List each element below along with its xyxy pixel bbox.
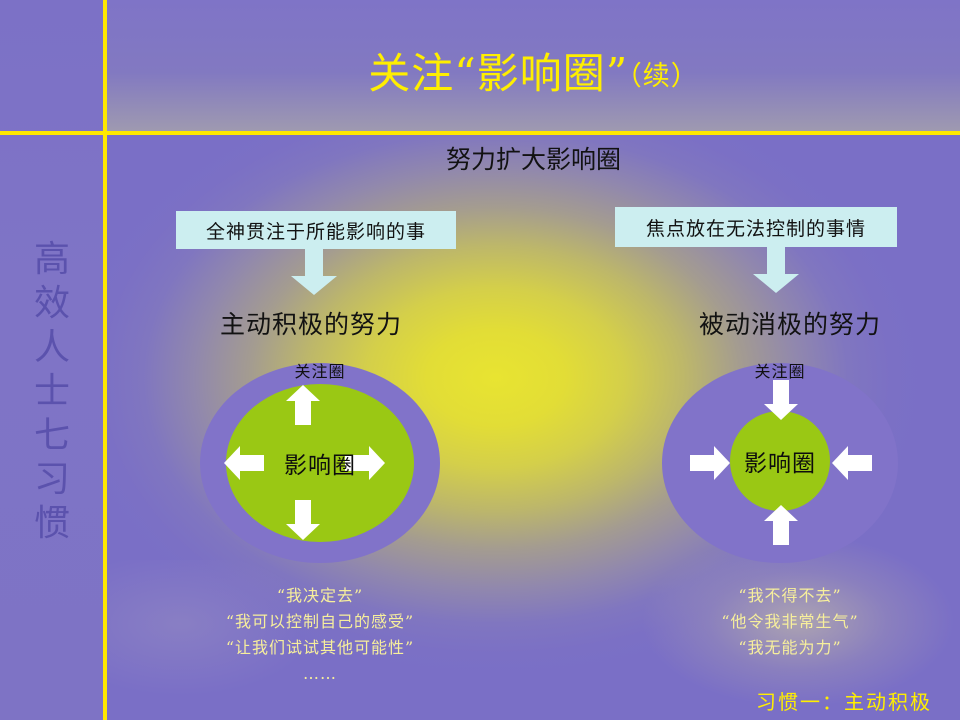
arrow-stem: [238, 455, 264, 471]
section-heading-right: 被动消极的努力: [640, 305, 940, 341]
callout-box-left: 全神贯注于所能影响的事: [176, 211, 456, 249]
horizontal-divider-line: [0, 131, 960, 135]
arrow-stem: [295, 500, 311, 526]
quote-item: “我可以控制自己的感受”: [170, 609, 470, 635]
arrow-head: [369, 446, 385, 480]
arrow-stem: [767, 247, 785, 275]
sidebar-char: 士: [22, 370, 82, 414]
arrow-head: [291, 276, 337, 295]
diagram-reactive: 关注圈 影响圈: [660, 355, 900, 580]
callout-left-text: 全神贯注于所能影响的事: [206, 217, 426, 244]
connector-arrow-right-icon: [753, 247, 799, 293]
quote-item: “他令我非常生气”: [640, 609, 940, 635]
circle-of-influence-right: 影响圈: [730, 411, 830, 511]
arrow-stem: [773, 519, 789, 545]
slide-canvas: 高 效 人 士 七 习 惯 关注“影响圈”（续） 努力扩大影响圈 全神贯注于所能…: [0, 0, 960, 720]
quote-item: “我决定去”: [170, 583, 470, 609]
arrow-head: [753, 274, 799, 293]
arrow-stem: [295, 399, 311, 425]
slide-title-main: 关注“影响圈”: [368, 49, 628, 98]
arrow-stem: [305, 249, 323, 277]
vertical-divider-line: [103, 0, 107, 720]
sidebar-char: 七: [22, 414, 82, 458]
slide-title: 关注“影响圈”（续）: [107, 48, 960, 103]
sidebar-char: 高: [22, 238, 82, 282]
sidebar-char: 效: [22, 282, 82, 326]
arrow-head: [224, 446, 240, 480]
callout-right-text: 焦点放在无法控制的事情: [646, 214, 866, 241]
slide-subtitle: 努力扩大影响圈: [107, 143, 960, 177]
shrink-arrow-left-icon: [832, 446, 872, 480]
expand-arrow-up-icon: [286, 385, 320, 425]
arrow-head: [764, 404, 798, 420]
quote-list-right: “我不得不去” “他令我非常生气” “我无能为力”: [640, 583, 940, 661]
connector-arrow-left-icon: [291, 249, 337, 295]
quote-item: “让我们试试其他可能性”: [170, 635, 470, 661]
circle-of-concern-label-left: 关注圈: [260, 358, 380, 382]
arrow-stem: [773, 380, 789, 406]
callout-box-right: 焦点放在无法控制的事情: [615, 207, 897, 247]
arrow-stem: [846, 455, 872, 471]
expand-arrow-left-icon: [224, 446, 264, 480]
section-heading-left: 主动积极的努力: [161, 305, 461, 341]
circle-of-influence-label-left: 影响圈: [284, 446, 356, 480]
diagram-proactive: 关注圈 影响圈: [200, 355, 440, 580]
expand-arrow-down-icon: [286, 500, 320, 540]
arrow-head: [286, 385, 320, 401]
arrow-head: [286, 524, 320, 540]
arrow-head: [832, 446, 848, 480]
sidebar-char: 习: [22, 458, 82, 502]
quote-item: “我无能为力”: [640, 635, 940, 661]
footer-habit-note: 习惯一：主动积极: [756, 686, 932, 715]
sidebar-char: 人: [22, 326, 82, 370]
quote-item: “我不得不去”: [640, 583, 940, 609]
quote-list-left: “我决定去” “我可以控制自己的感受” “让我们试试其他可能性” ……: [170, 583, 470, 687]
quote-item: ……: [170, 661, 470, 687]
slide-title-suffix: （续）: [628, 61, 699, 92]
sidebar-char: 惯: [22, 502, 82, 546]
circle-of-concern-label-right: 关注圈: [720, 358, 840, 382]
sidebar-vertical-title: 高 效 人 士 七 习 惯: [22, 238, 82, 546]
shrink-arrow-up-icon: [764, 505, 798, 545]
arrow-stem: [690, 455, 716, 471]
shrink-arrow-down-icon: [764, 380, 798, 420]
shrink-arrow-right-icon: [690, 446, 730, 480]
circle-of-influence-label-right: 影响圈: [744, 444, 816, 478]
arrow-head: [714, 446, 730, 480]
arrow-head: [764, 505, 798, 521]
